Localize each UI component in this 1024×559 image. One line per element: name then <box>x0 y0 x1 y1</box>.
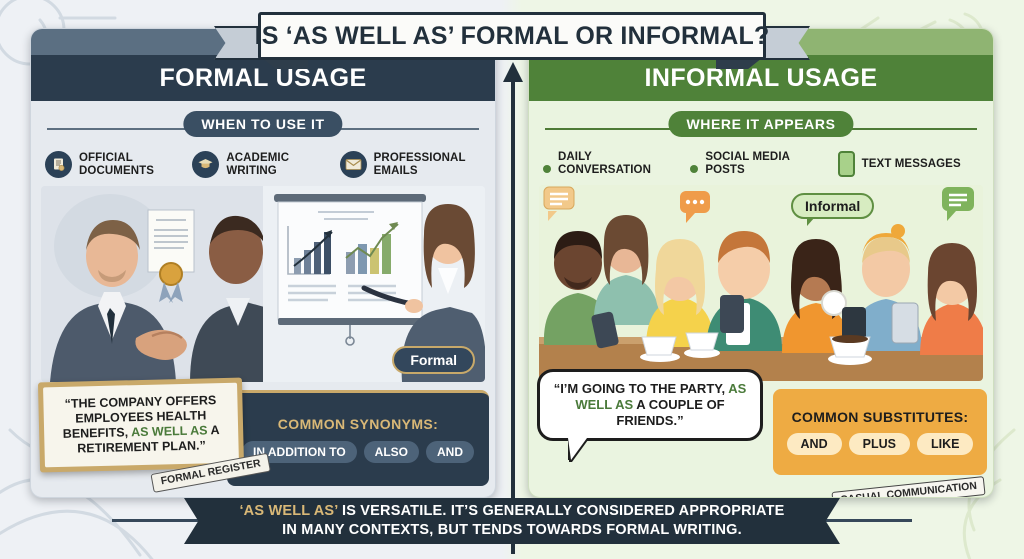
graduation-cap-icon <box>192 151 219 178</box>
informal-subhead-pill: WHERE IT APPEARS <box>668 111 853 137</box>
informal-quote-after: A COUPLE OF FRIENDS.” <box>616 397 724 428</box>
formal-panel-header: FORMAL USAGE <box>31 55 495 101</box>
synonym-chip[interactable]: AND <box>426 441 474 463</box>
casual-communication-stamp: CASUAL COMMUNICATION <box>831 476 985 498</box>
formal-header-title: FORMAL USAGE <box>159 64 366 93</box>
informal-item-label: SOCIAL MEDIA POSTS <box>705 151 831 177</box>
envelope-icon <box>340 151 367 178</box>
formal-illustration-area: Formal <box>41 186 485 382</box>
informal-usage-panel: INFORMAL USAGE WHERE IT APPEARS DAILY CO… <box>528 28 994 498</box>
formal-quote-inner: “THE COMPANY OFFERS EMPLOYEES HEALTH BEN… <box>43 383 239 468</box>
informal-item-social-media-posts: SOCIAL MEDIA POSTS <box>690 151 831 177</box>
formal-subhead: WHEN TO USE IT <box>31 111 495 145</box>
handshake-illustration <box>41 186 263 382</box>
title-banner: IS ‘AS WELL AS’ FORMAL OR INFORMAL? <box>258 12 766 60</box>
substitute-chip[interactable]: AND <box>787 433 842 455</box>
footer-text: ‘AS WELL AS’ IS VERSATILE. IT’S GENERALL… <box>230 502 794 539</box>
formal-item-professional-emails: PROFESSIONAL EMAILS <box>340 151 481 178</box>
footer-highlight: ‘AS WELL AS’ <box>239 503 337 519</box>
common-substitutes-title: COMMON SUBSTITUTES: <box>792 409 969 425</box>
formal-item-label: OFFICIAL DOCUMENTS <box>79 152 186 178</box>
informal-quote-bubble: “I’M GOING TO THE PARTY, AS WELL AS A CO… <box>537 369 763 441</box>
informal-scene-badge: Informal <box>791 193 874 219</box>
title-plate: IS ‘AS WELL AS’ FORMAL OR INFORMAL? <box>258 12 766 60</box>
synonym-chip[interactable]: ALSO <box>364 441 419 463</box>
dot-bullet-icon <box>543 165 551 173</box>
informal-panel-header: INFORMAL USAGE <box>529 55 993 101</box>
footer-plate: ‘AS WELL AS’ IS VERSATILE. IT’S GENERALL… <box>208 498 816 544</box>
dot-bullet-icon <box>690 165 698 173</box>
formal-item-official-documents: OFFICIAL DOCUMENTS <box>45 151 186 178</box>
formal-item-label: PROFESSIONAL EMAILS <box>374 152 481 178</box>
substitute-chip[interactable]: PLUS <box>849 433 910 455</box>
formal-scene-badge: Formal <box>392 346 475 374</box>
formal-quote-highlight: AS WELL AS <box>131 423 208 439</box>
formal-usage-panel: FORMAL USAGE WHEN TO USE IT OFFICIAL DOC… <box>30 28 496 498</box>
informal-header-title: INFORMAL USAGE <box>645 64 878 93</box>
page-title: IS ‘AS WELL AS’ FORMAL OR INFORMAL? <box>255 22 770 51</box>
divider-arrow-shaft <box>511 76 515 554</box>
informal-quote-before: “I’M GOING TO THE PARTY, <box>554 381 729 396</box>
footer-rest: IS VERSATILE. IT’S GENERALLY CONSIDERED … <box>282 503 784 538</box>
informal-illustration-area: Informal <box>539 185 983 381</box>
mobile-phone-icon <box>838 151 855 177</box>
common-substitutes-box: COMMON SUBSTITUTES: AND PLUS LIKE CASUAL… <box>773 389 987 475</box>
formal-items-row: OFFICIAL DOCUMENTS ACADEMIC WRITING PROF… <box>31 145 495 178</box>
footer-rule-right <box>824 519 912 522</box>
formal-bottom-area: COMMON SYNONYMS: IN ADDITION TO ALSO AND… <box>31 388 495 498</box>
formal-quote-text: “THE COMPANY OFFERS EMPLOYEES HEALTH BEN… <box>51 393 230 457</box>
footer-rule-left <box>112 519 200 522</box>
common-synonyms-title: COMMON SYNONYMS: <box>278 416 438 432</box>
document-seal-icon <box>45 151 72 178</box>
formal-item-label: ACADEMIC WRITING <box>226 152 333 178</box>
substitute-chip[interactable]: LIKE <box>917 433 973 455</box>
substitute-chip-row: AND PLUS LIKE <box>787 433 974 455</box>
formal-quote-plaque: “THE COMPANY OFFERS EMPLOYEES HEALTH BEN… <box>38 378 244 473</box>
informal-quote-text: “I’M GOING TO THE PARTY, AS WELL AS A CO… <box>550 381 750 429</box>
formal-subhead-rule-left <box>47 128 195 130</box>
formal-item-academic-writing: ACADEMIC WRITING <box>192 151 333 178</box>
informal-item-daily-conversation: DAILY CONVERSATION <box>543 151 684 177</box>
informal-subhead: WHERE IT APPEARS <box>529 111 993 145</box>
formal-subhead-pill: WHEN TO USE IT <box>183 111 342 137</box>
synonym-chip-row: IN ADDITION TO ALSO AND <box>242 441 474 463</box>
informal-bottom-area: COMMON SUBSTITUTES: AND PLUS LIKE CASUAL… <box>529 387 993 498</box>
footer-banner: ‘AS WELL AS’ IS VERSATILE. IT’S GENERALL… <box>208 498 816 544</box>
informal-item-text-messages: TEXT MESSAGES <box>838 151 979 177</box>
informal-item-label: TEXT MESSAGES <box>862 158 961 171</box>
formal-subhead-rule-right <box>331 128 479 130</box>
informal-items-row: DAILY CONVERSATION SOCIAL MEDIA POSTS TE… <box>529 145 993 177</box>
informal-item-label: DAILY CONVERSATION <box>558 151 684 177</box>
